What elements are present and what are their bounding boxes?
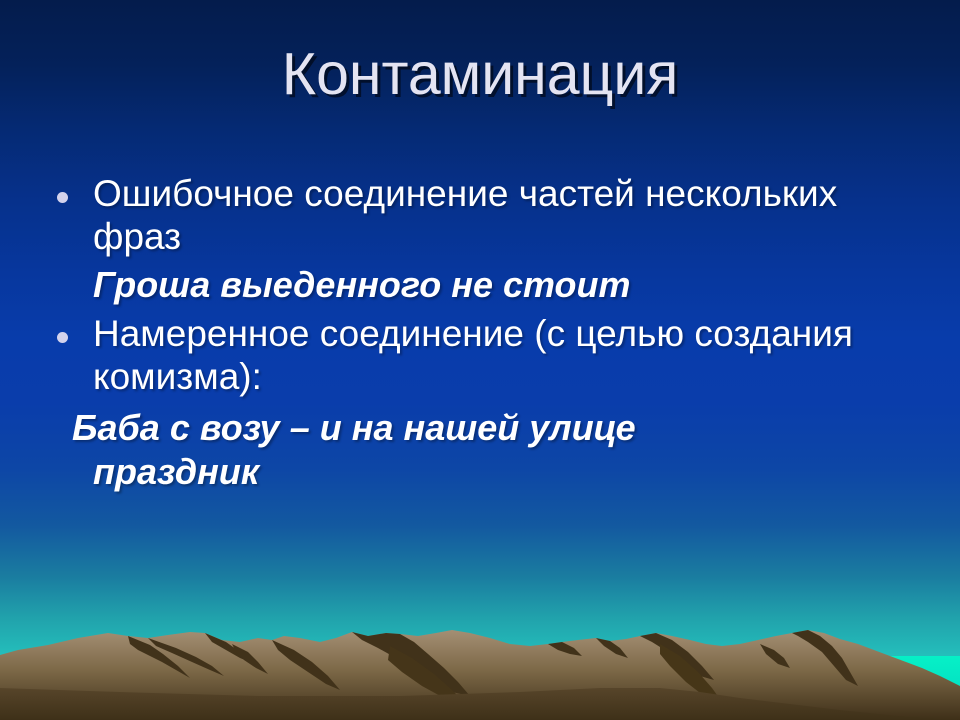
bullet-item: Ошибочное соединение частей нескольких ф… bbox=[40, 172, 860, 259]
bullet-dot-icon bbox=[57, 332, 68, 343]
slide-title: Контаминация bbox=[0, 44, 960, 106]
slide-canvas: Контаминация Ошибочное соединение частей… bbox=[0, 0, 960, 720]
bullet-dot-icon bbox=[57, 192, 68, 203]
bullet-text: Намеренное соединение (с целью создания … bbox=[93, 313, 853, 397]
example-phrase-2-line2: праздник bbox=[72, 450, 860, 493]
bullet-text: Ошибочное соединение частей нескольких ф… bbox=[93, 173, 837, 257]
mountain-range-graphic bbox=[0, 600, 960, 720]
example-phrase-2-line1: Баба с возу – и на нашей улице bbox=[72, 407, 636, 448]
bullet-item: Намеренное соединение (с целью создания … bbox=[40, 312, 860, 399]
example-phrase-1: Гроша выеденного не стоит bbox=[40, 263, 860, 306]
example-phrase-2: Баба с возу – и на нашей улице праздник bbox=[40, 406, 860, 492]
slide-body: Ошибочное соединение частей нескольких ф… bbox=[40, 172, 860, 493]
